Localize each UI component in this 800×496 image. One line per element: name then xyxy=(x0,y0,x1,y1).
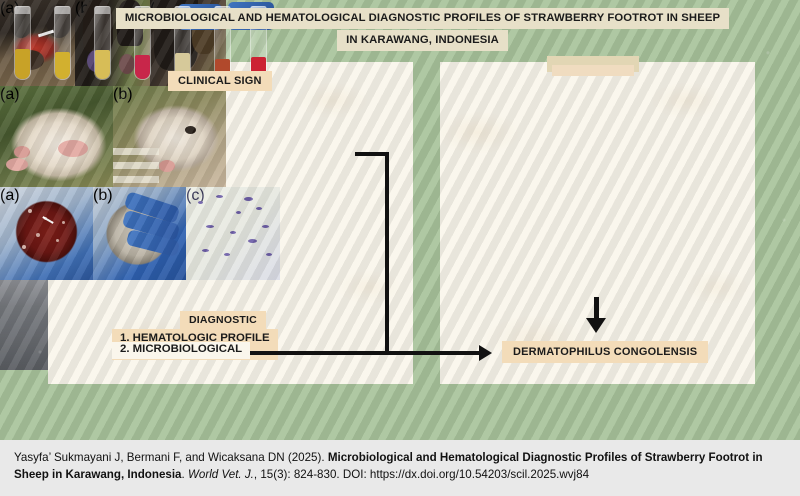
citation-volume-pages-doi: , 15(3): 824-830. DOI: https://dx.doi.or… xyxy=(254,468,589,481)
citation-footer: Yasyfa’ Sukmayani J, Bermani F, and Wica… xyxy=(0,440,800,496)
arrow-down-icon xyxy=(586,318,606,333)
diagnostic-item-2: 2. MICROBIOLOGICAL xyxy=(120,343,242,357)
arrow-right-icon xyxy=(479,345,492,361)
connector-elbow-horizontal xyxy=(355,152,389,156)
clinical-sign-heading: CLINICAL SIGN xyxy=(168,71,272,91)
graphical-abstract-poster: MICROBIOLOGICAL AND HEMATOLOGICAL DIAGNO… xyxy=(0,0,800,440)
poster-title: MICROBIOLOGICAL AND HEMATOLOGICAL DIAGNO… xyxy=(100,8,745,51)
poster-title-line-1: MICROBIOLOGICAL AND HEMATOLOGICAL DIAGNO… xyxy=(116,8,729,29)
result-pathogen-label: DERMATOPHILUS CONGOLENSIS xyxy=(502,341,708,363)
citation-authors-year: Yasyfa’ Sukmayani J, Bermani F, and Wica… xyxy=(14,451,328,464)
diagnostic-heading: DIAGNOSTIC xyxy=(180,311,266,329)
decorative-tan-tab xyxy=(547,56,639,72)
poster-title-line-2: IN KARAWANG, INDONESIA xyxy=(337,30,508,51)
diagnostic-list-overflow: 2. MICROBIOLOGICAL xyxy=(112,342,250,359)
citation-journal: World Vet. J. xyxy=(188,468,254,481)
citation-text: Yasyfa’ Sukmayani J, Bermani F, and Wica… xyxy=(14,450,786,483)
connector-elbow-vertical xyxy=(385,152,389,353)
